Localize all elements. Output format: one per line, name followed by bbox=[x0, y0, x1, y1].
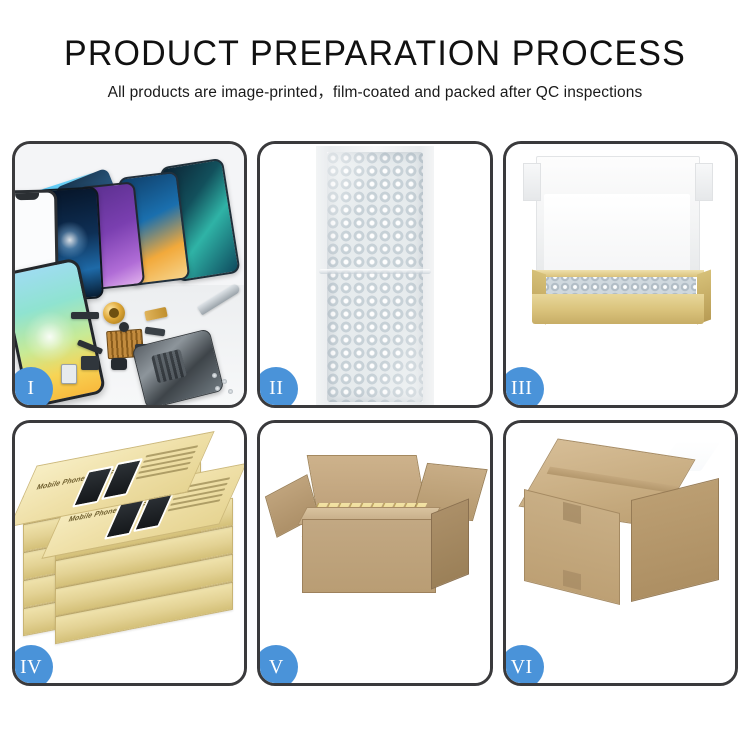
bubble-wrap-icon bbox=[327, 152, 423, 402]
box-stack-icon: Mobile Phone Spare Parts Mobile Phone Sp… bbox=[21, 441, 241, 621]
box-spec-lines bbox=[130, 445, 199, 492]
process-step-panel-2: II bbox=[257, 141, 492, 408]
step-badge-5: V bbox=[257, 645, 298, 686]
sim-tray-icon bbox=[61, 364, 77, 384]
step-badge-3: III bbox=[503, 367, 544, 408]
page-title: PRODUCT PREPARATION PROCESS bbox=[11, 34, 739, 74]
mailer-rim bbox=[532, 270, 704, 277]
step-6-illustration bbox=[506, 423, 735, 684]
carton-body bbox=[302, 519, 436, 593]
step-badge-6: VI bbox=[503, 645, 544, 686]
process-step-panel-6: VI bbox=[503, 420, 738, 687]
screws-icon bbox=[212, 373, 238, 395]
step-5-illustration bbox=[260, 423, 489, 684]
process-step-panel-1: I bbox=[12, 141, 247, 408]
process-step-panel-3: III bbox=[503, 141, 738, 408]
process-step-panel-5: V bbox=[257, 420, 492, 687]
carton-handle-tab bbox=[563, 569, 581, 589]
step-badge-4: IV bbox=[12, 645, 53, 686]
process-step-grid: I II III bbox=[12, 141, 738, 686]
step-3-illustration bbox=[506, 144, 735, 405]
wrap-seam bbox=[319, 269, 431, 274]
spare-part-icon bbox=[119, 322, 129, 332]
step-2-illustration bbox=[260, 144, 489, 405]
step-1-illustration bbox=[15, 144, 244, 405]
page-header: PRODUCT PREPARATION PROCESS All products… bbox=[0, 0, 750, 104]
mailer-front-panel bbox=[532, 294, 704, 324]
carton-handle-tab bbox=[563, 501, 581, 523]
spare-part-icon bbox=[81, 356, 99, 370]
carton-right-face bbox=[631, 478, 719, 602]
spare-part-icon bbox=[111, 358, 127, 370]
page-subtitle: All products are image-printed，film-coat… bbox=[0, 82, 750, 104]
process-step-panel-4: Mobile Phone Spare Parts Mobile Phone Sp… bbox=[12, 420, 247, 687]
copper-coil-icon bbox=[103, 302, 125, 324]
foam-sheet-icon bbox=[544, 194, 690, 276]
spare-part-icon bbox=[71, 312, 99, 319]
step-4-illustration: Mobile Phone Spare Parts Mobile Phone Sp… bbox=[15, 423, 244, 684]
